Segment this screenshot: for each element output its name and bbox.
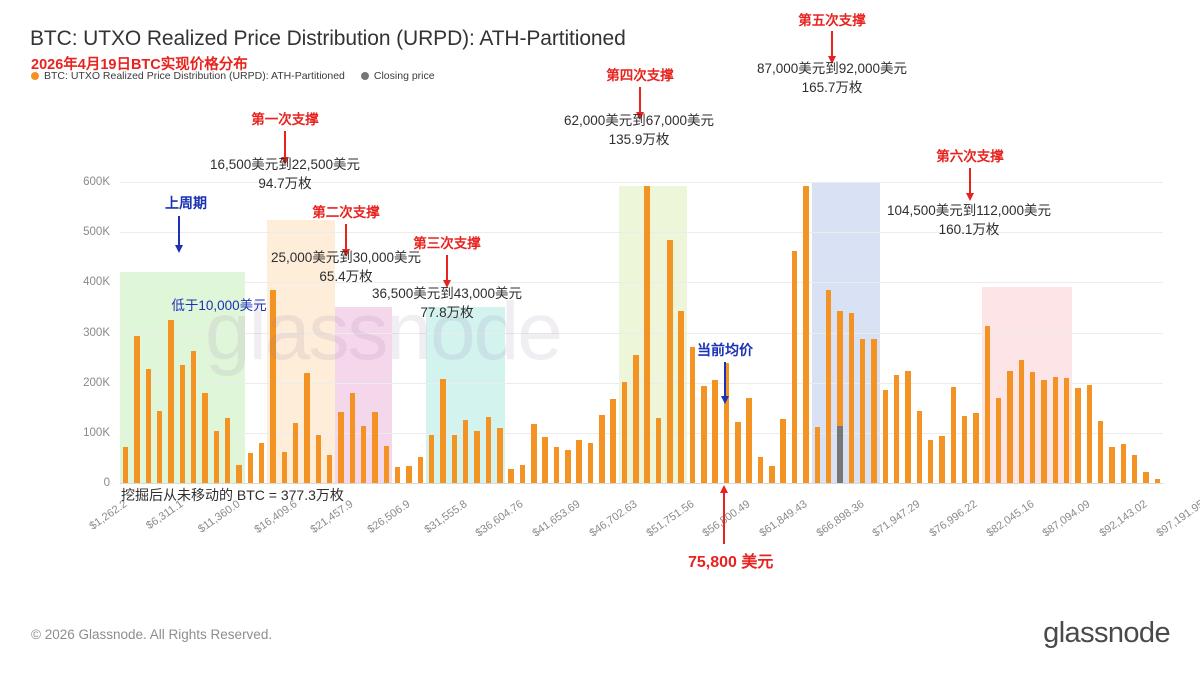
legend-item-urpd[interactable]: BTC: UTXO Realized Price Distribution (U… bbox=[31, 70, 345, 82]
x-axis-tick-label: $97,191.95 bbox=[1117, 498, 1200, 565]
bar[interactable] bbox=[610, 399, 615, 483]
legend-dot-gray-icon bbox=[361, 72, 369, 80]
bar[interactable] bbox=[531, 424, 536, 483]
bar[interactable] bbox=[894, 375, 899, 483]
bar[interactable] bbox=[520, 465, 525, 483]
closing-price-bar[interactable] bbox=[837, 426, 842, 483]
bar[interactable] bbox=[361, 426, 366, 483]
bar[interactable] bbox=[406, 466, 411, 483]
bar[interactable] bbox=[860, 339, 865, 483]
bar[interactable] bbox=[758, 457, 763, 483]
page-title: BTC: UTXO Realized Price Distribution (U… bbox=[30, 27, 626, 51]
y-axis-tick-400K: 400K bbox=[62, 276, 110, 288]
x-axis-tick-label: $76,996.22 bbox=[891, 498, 980, 565]
bar[interactable] bbox=[826, 290, 831, 483]
y-axis-tick-100K: 100K bbox=[62, 427, 110, 439]
x-axis-tick-label: $46,702.63 bbox=[550, 498, 639, 565]
annotation-arrow-support-5-icon bbox=[831, 31, 833, 57]
bar[interactable] bbox=[134, 336, 139, 483]
bar[interactable] bbox=[1098, 421, 1103, 483]
bar[interactable] bbox=[440, 379, 445, 483]
x-axis-tick-label: $11,360.0 bbox=[154, 498, 243, 565]
bar[interactable] bbox=[1007, 371, 1012, 483]
annotation-arrow-support-2-icon bbox=[345, 224, 347, 250]
current-price-callout: 75,800 美元 bbox=[688, 548, 773, 572]
bar[interactable] bbox=[384, 446, 389, 483]
legend-dot-orange-icon bbox=[31, 72, 39, 80]
bar[interactable] bbox=[146, 369, 151, 483]
bar[interactable] bbox=[712, 380, 717, 483]
bar[interactable] bbox=[1143, 472, 1148, 483]
bar[interactable] bbox=[690, 347, 695, 483]
bar[interactable] bbox=[474, 431, 479, 483]
x-axis-tick-label: $82,045.16 bbox=[947, 498, 1036, 565]
x-axis-tick-label: $102,240.89 bbox=[1174, 498, 1200, 565]
annotation-body-support-5-line1: 87,000美元到92,000美元 bbox=[722, 60, 942, 78]
bar[interactable] bbox=[996, 398, 1001, 483]
x-axis-tick-label: $51,751.56 bbox=[607, 498, 696, 565]
annotation-body-support-3-line2: 77.8万枚 bbox=[333, 304, 561, 322]
bar[interactable] bbox=[905, 371, 910, 483]
x-axis-tick-label: $1,262.2 bbox=[40, 498, 129, 565]
bar[interactable] bbox=[214, 431, 219, 483]
bar[interactable] bbox=[282, 452, 287, 483]
annotation-body-support-6-line1: 104,500美元到112,000美元 bbox=[848, 202, 1090, 220]
legend-label-urpd: BTC: UTXO Realized Price Distribution (U… bbox=[44, 70, 345, 82]
x-axis-tick-label: $87,094.09 bbox=[1004, 498, 1093, 565]
bar[interactable] bbox=[1053, 377, 1058, 483]
legend-item-closing-price[interactable]: Closing price bbox=[361, 70, 435, 82]
annotation-title-support-3: 第三次支撑 bbox=[367, 232, 527, 252]
bar[interactable] bbox=[803, 186, 808, 483]
bar[interactable] bbox=[883, 390, 888, 483]
x-axis-tick-label: $26,506.9 bbox=[324, 498, 413, 565]
bar[interactable] bbox=[123, 447, 128, 483]
bar[interactable] bbox=[1121, 444, 1126, 483]
x-axis-tick-label: $36,604.76 bbox=[437, 498, 526, 565]
annotation-body-support-2-line2: 65.4万枚 bbox=[236, 268, 456, 286]
bar[interactable] bbox=[554, 447, 559, 483]
bar[interactable] bbox=[508, 469, 513, 483]
annotation-title-support-6: 第六次支撑 bbox=[890, 145, 1050, 165]
bar[interactable] bbox=[746, 398, 751, 483]
bar[interactable] bbox=[395, 467, 400, 483]
bar[interactable] bbox=[168, 320, 173, 483]
bar[interactable] bbox=[939, 436, 944, 483]
bar[interactable] bbox=[985, 326, 990, 483]
bar[interactable] bbox=[180, 365, 185, 483]
bar[interactable] bbox=[656, 418, 661, 483]
bar[interactable] bbox=[1075, 388, 1080, 483]
bar[interactable] bbox=[542, 437, 547, 483]
bar[interactable] bbox=[259, 443, 264, 483]
x-axis-tick-label: $6,311.1 bbox=[97, 498, 186, 565]
bar[interactable] bbox=[1019, 360, 1024, 483]
y-axis-tick-0: 0 bbox=[62, 477, 110, 489]
annotation-arrow-support-4-icon bbox=[639, 87, 641, 113]
bar[interactable] bbox=[622, 382, 627, 483]
bar[interactable] bbox=[236, 465, 241, 483]
bar[interactable] bbox=[248, 453, 253, 483]
mined-never-moved-note: 挖掘后从未移动的 BTC = 377.3万枚 bbox=[121, 485, 344, 505]
annotation-title-support-5: 第五次支撑 bbox=[752, 9, 912, 29]
bar[interactable] bbox=[962, 416, 967, 483]
bar[interactable] bbox=[463, 420, 468, 483]
annotation-title-support-2: 第二次支撑 bbox=[266, 201, 426, 221]
bar[interactable] bbox=[338, 412, 343, 483]
bar[interactable] bbox=[225, 418, 230, 483]
annotation-arrow-support-6-icon bbox=[969, 168, 971, 194]
annotation-title-support-4: 第四次支撑 bbox=[560, 64, 720, 84]
annotation-body-support-1-line1: 16,500美元到22,500美元 bbox=[175, 156, 395, 174]
annotation-body-support-4-line2: 135.9万枚 bbox=[528, 131, 750, 149]
chart-legend: BTC: UTXO Realized Price Distribution (U… bbox=[31, 70, 435, 82]
bar[interactable] bbox=[191, 351, 196, 483]
bar[interactable] bbox=[1132, 455, 1137, 483]
bar[interactable] bbox=[633, 355, 638, 483]
x-axis-tick-label: $41,653.69 bbox=[494, 498, 583, 565]
bar[interactable] bbox=[678, 311, 683, 483]
annotation-body-prev-cycle: 低于10,000美元 bbox=[124, 297, 314, 315]
annotation-arrow-current-mean-price-icon bbox=[724, 362, 726, 397]
bar[interactable] bbox=[327, 455, 332, 483]
bar[interactable] bbox=[849, 313, 854, 483]
bar[interactable] bbox=[1030, 372, 1035, 483]
bar[interactable] bbox=[1087, 385, 1092, 483]
x-axis-tick-label: $21,457.9 bbox=[267, 498, 356, 565]
bar[interactable] bbox=[1109, 447, 1114, 483]
bar[interactable] bbox=[917, 411, 922, 483]
bar[interactable] bbox=[951, 387, 956, 483]
x-axis-tick-label: $71,947.29 bbox=[834, 498, 923, 565]
bar[interactable] bbox=[667, 240, 672, 483]
bar[interactable] bbox=[815, 427, 820, 483]
bar[interactable] bbox=[576, 440, 581, 483]
bar[interactable] bbox=[316, 435, 321, 483]
annotation-body-support-5-line2: 165.7万枚 bbox=[722, 79, 942, 97]
bar[interactable] bbox=[1041, 380, 1046, 483]
bar[interactable] bbox=[497, 428, 502, 483]
bar[interactable] bbox=[157, 411, 162, 483]
bar[interactable] bbox=[644, 186, 649, 483]
x-axis-tick-label: $66,898.36 bbox=[777, 498, 866, 565]
annotation-arrow-closing-price-icon bbox=[723, 492, 725, 544]
bar[interactable] bbox=[1064, 378, 1069, 483]
annotation-title-prev-cycle: 上周期 bbox=[146, 193, 226, 213]
bar[interactable] bbox=[429, 435, 434, 483]
bar[interactable] bbox=[928, 440, 933, 483]
annotation-arrow-support-3-icon bbox=[446, 255, 448, 281]
annotation-arrow-prev-cycle-icon bbox=[178, 216, 180, 246]
legend-label-closing-price: Closing price bbox=[374, 70, 435, 82]
annotation-title-current-mean-price: 当前均价 bbox=[683, 340, 767, 360]
bar[interactable] bbox=[565, 450, 570, 483]
bar[interactable] bbox=[701, 386, 706, 483]
x-axis-tick-label: $16,409.6 bbox=[210, 498, 299, 565]
bar[interactable] bbox=[452, 435, 457, 483]
bar[interactable] bbox=[792, 251, 797, 483]
y-axis-tick-300K: 300K bbox=[62, 327, 110, 339]
annotation-title-support-1: 第一次支撑 bbox=[205, 108, 365, 128]
y-axis-tick-200K: 200K bbox=[62, 377, 110, 389]
bar[interactable] bbox=[599, 415, 604, 483]
bar[interactable] bbox=[1155, 479, 1160, 483]
bar[interactable] bbox=[780, 419, 785, 483]
footer-brand-logo: glassnode bbox=[1043, 617, 1170, 650]
bar[interactable] bbox=[588, 443, 593, 483]
bar[interactable] bbox=[202, 393, 207, 483]
bar[interactable] bbox=[350, 393, 355, 483]
annotation-arrow-support-1-icon bbox=[284, 131, 286, 158]
annotation-body-support-6-line2: 160.1万枚 bbox=[848, 221, 1090, 239]
x-axis-tick-label: $31,555.8 bbox=[380, 498, 469, 565]
bar[interactable] bbox=[735, 422, 740, 483]
annotation-body-support-4-line1: 62,000美元到67,000美元 bbox=[528, 112, 750, 130]
x-axis-tick-label: $92,143.02 bbox=[1061, 498, 1150, 565]
bar[interactable] bbox=[769, 466, 774, 483]
annotation-body-support-1-line2: 94.7万枚 bbox=[175, 175, 395, 193]
y-axis-tick-500K: 500K bbox=[62, 226, 110, 238]
gridline-0 bbox=[120, 483, 1163, 484]
footer-copyright: © 2026 Glassnode. All Rights Reserved. bbox=[31, 627, 272, 642]
annotation-body-support-3-line1: 36,500美元到43,000美元 bbox=[333, 285, 561, 303]
bar[interactable] bbox=[293, 423, 298, 483]
bar[interactable] bbox=[270, 290, 275, 483]
bar[interactable] bbox=[871, 339, 876, 483]
bar[interactable] bbox=[418, 457, 423, 483]
bar[interactable] bbox=[486, 417, 491, 483]
y-axis-tick-600K: 600K bbox=[62, 176, 110, 188]
bar[interactable] bbox=[304, 373, 309, 483]
bar[interactable] bbox=[372, 412, 377, 483]
bar[interactable] bbox=[973, 413, 978, 483]
